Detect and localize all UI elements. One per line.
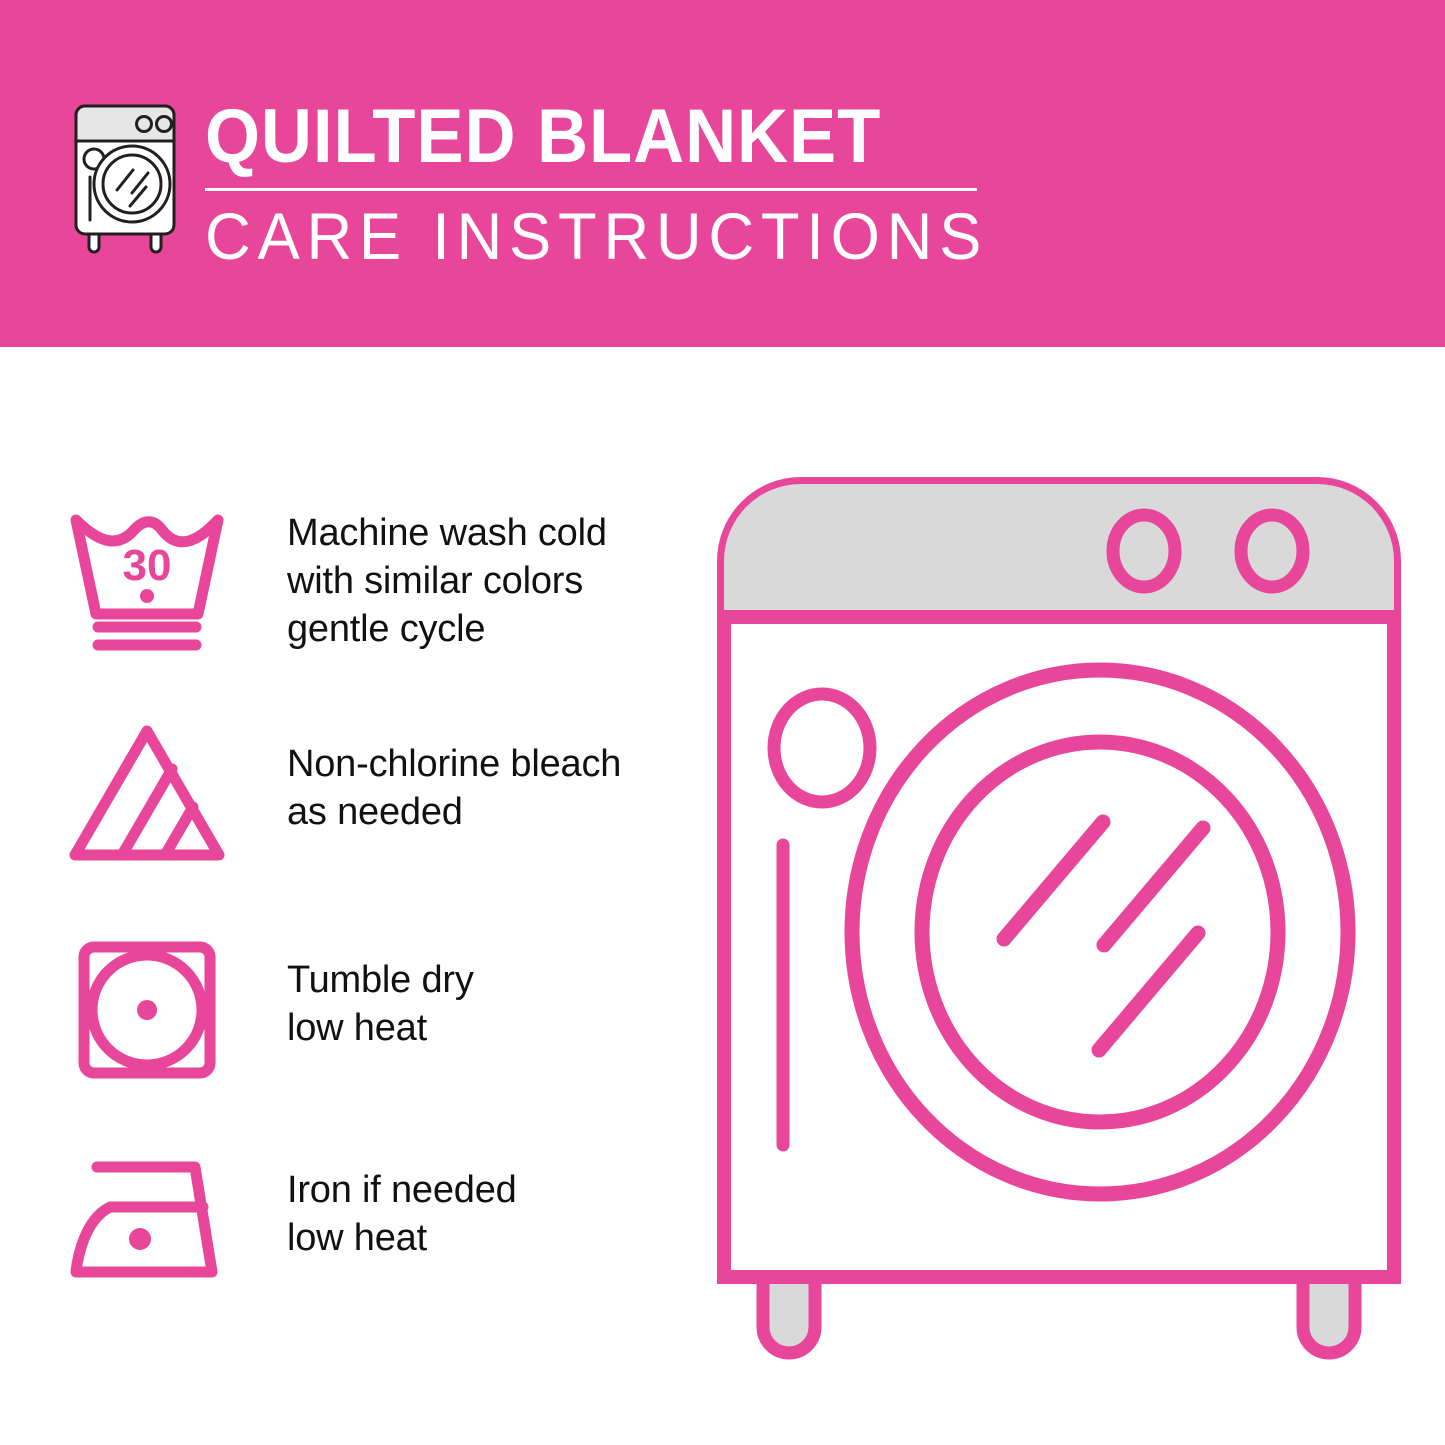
care-instructions-list: 30 Machine wash cold with similar colors… xyxy=(0,347,700,1445)
wash-temperature-label: 30 xyxy=(123,541,172,590)
machine-knob-right xyxy=(1241,515,1303,587)
page-subtitle: CARE INSTRUCTIONS xyxy=(205,203,963,269)
tumble-dry-dot-icon xyxy=(137,1000,157,1020)
care-label-line: Non-chlorine bleach xyxy=(287,741,621,789)
bleach-triangle-icon xyxy=(62,719,242,869)
machine-leg-left xyxy=(763,1275,815,1353)
care-label-line: with similar colors xyxy=(287,558,607,606)
care-label-line: low heat xyxy=(287,1215,517,1263)
care-label-line: gentle cycle xyxy=(287,606,607,654)
title-divider xyxy=(205,188,977,191)
iron-icon xyxy=(62,1147,242,1297)
care-label-line: as needed xyxy=(287,789,621,837)
care-label-bleach: Non-chlorine bleach as needed xyxy=(287,719,621,837)
washing-machine-icon xyxy=(60,98,190,258)
care-label-line: Tumble dry xyxy=(287,957,474,1005)
care-row-wash: 30 Machine wash cold with similar colors… xyxy=(62,502,682,654)
iron-dot-icon xyxy=(129,1228,151,1250)
care-label-wash: Machine wash cold with similar colors ge… xyxy=(287,502,607,654)
machine-dial xyxy=(774,694,870,802)
machine-knob-left xyxy=(1113,515,1175,587)
machine-leg-right xyxy=(1303,1275,1355,1353)
care-label-tumble-dry: Tumble dry low heat xyxy=(287,935,474,1053)
header-text-block: QUILTED BLANKET CARE INSTRUCTIONS xyxy=(205,100,995,269)
machine-drum-inner xyxy=(922,742,1278,1122)
wash-dot-icon xyxy=(140,589,154,603)
care-row-tumble-dry: Tumble dry low heat xyxy=(62,935,682,1085)
care-row-bleach: Non-chlorine bleach as needed xyxy=(62,719,682,869)
care-label-line: Iron if needed xyxy=(287,1167,517,1215)
wash-tub-icon: 30 xyxy=(62,502,242,652)
tumble-dry-icon xyxy=(62,935,242,1085)
header-banner: QUILTED BLANKET CARE INSTRUCTIONS xyxy=(0,0,1445,347)
care-row-iron: Iron if needed low heat xyxy=(62,1147,682,1297)
care-label-line: Machine wash cold xyxy=(287,510,607,558)
care-label-iron: Iron if needed low heat xyxy=(287,1147,517,1263)
page-title: QUILTED BLANKET xyxy=(205,100,940,174)
care-label-line: low heat xyxy=(287,1005,474,1053)
front-load-washing-machine-illustration xyxy=(715,475,1415,1365)
